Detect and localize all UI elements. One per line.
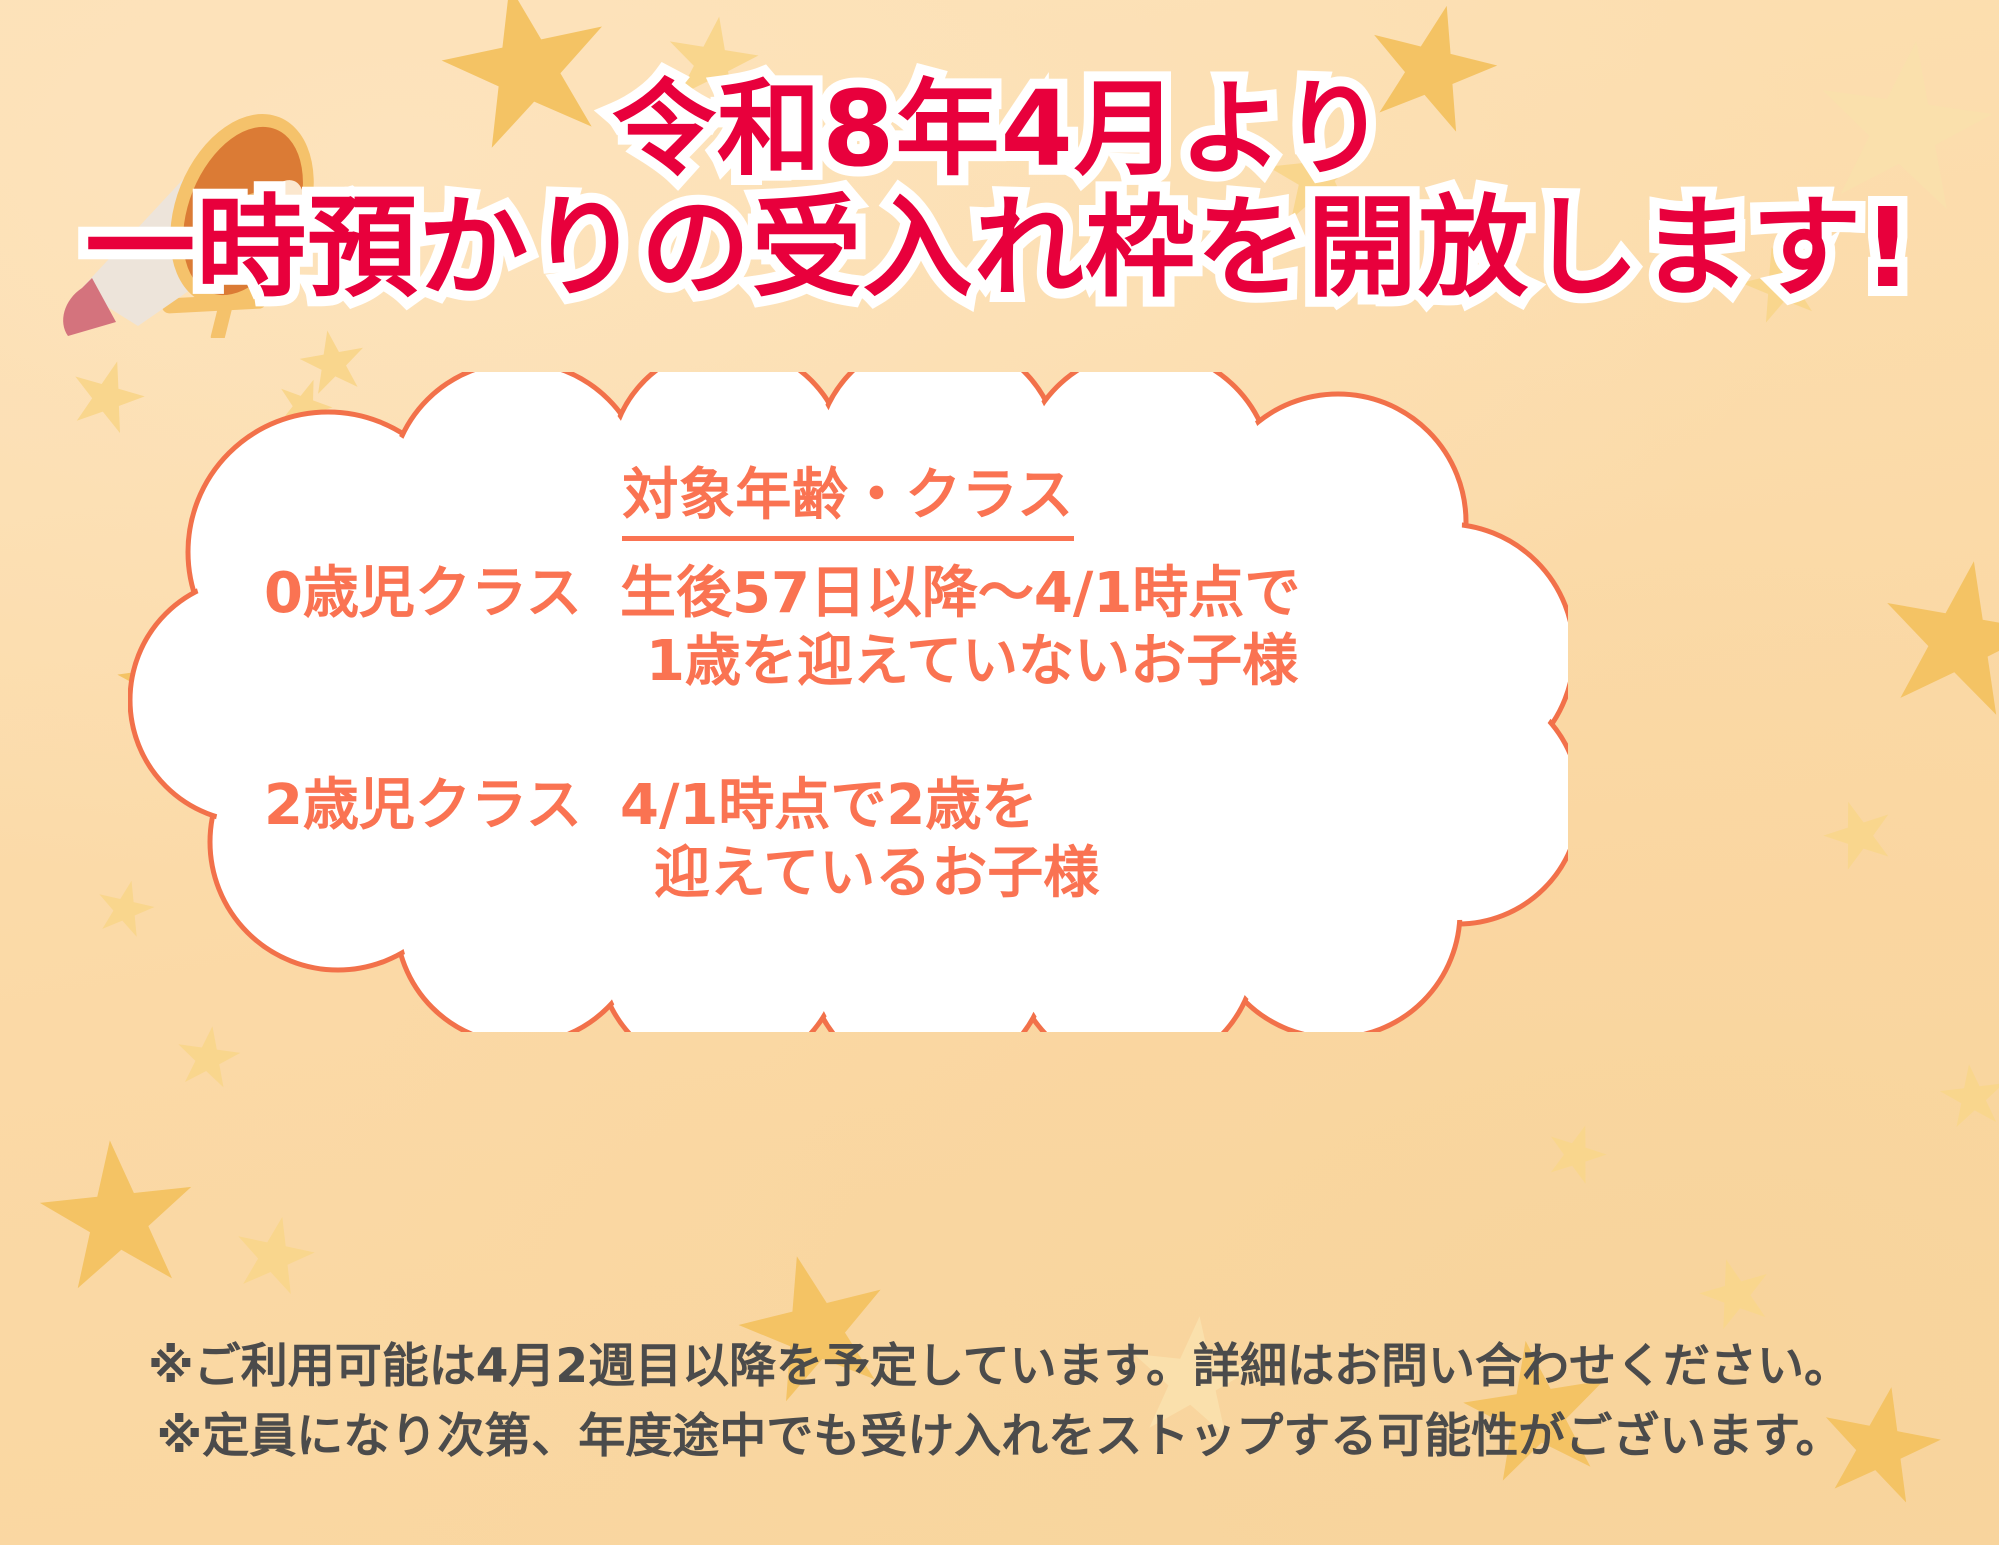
class-description-line: 生後57日以降～4/1時点で xyxy=(620,560,1480,628)
class-description-line: 1歳を迎えていないお子様 xyxy=(620,628,1480,696)
footnote-line: ※ご利用可能は4月2週目以降を予定しています。詳細はお問い合わせください。 xyxy=(0,1332,1999,1402)
class-heading: 対象年齢・クラス xyxy=(128,450,1568,531)
class-heading-label: 対象年齢・クラス xyxy=(622,463,1073,541)
class-label: 0歳児クラス xyxy=(264,560,582,628)
class-label: 2歳児クラス xyxy=(264,772,582,840)
title-line-1: 令和8年4月より xyxy=(0,74,1999,184)
footnote-line: ※定員になり次第、年度途中でも受け入れをストップする可能性がございます。 xyxy=(0,1402,1999,1472)
class-description-line: 迎えているお子様 xyxy=(620,840,1480,908)
poster-title: 令和8年4月より 一時預かりの受入れ枠を開放します! xyxy=(0,74,1999,307)
title-line-2: 一時預かりの受入れ枠を開放します! xyxy=(0,190,1999,307)
class-description-line: 4/1時点で2歳を xyxy=(620,772,1480,840)
poster-root: 令和8年4月より 一時預かりの受入れ枠を開放します! xyxy=(0,0,1999,1545)
class-description: 生後57日以降～4/1時点で 1歳を迎えていないお子様 xyxy=(620,560,1480,697)
cloud-card-content: 対象年齢・クラス 0歳児クラス 生後57日以降～4/1時点で 1歳を迎えていない… xyxy=(128,372,1568,1032)
footnotes: ※ご利用可能は4月2週目以降を予定しています。詳細はお問い合わせください。 ※定… xyxy=(0,1332,1999,1471)
class-description: 4/1時点で2歳を 迎えているお子様 xyxy=(620,772,1480,909)
